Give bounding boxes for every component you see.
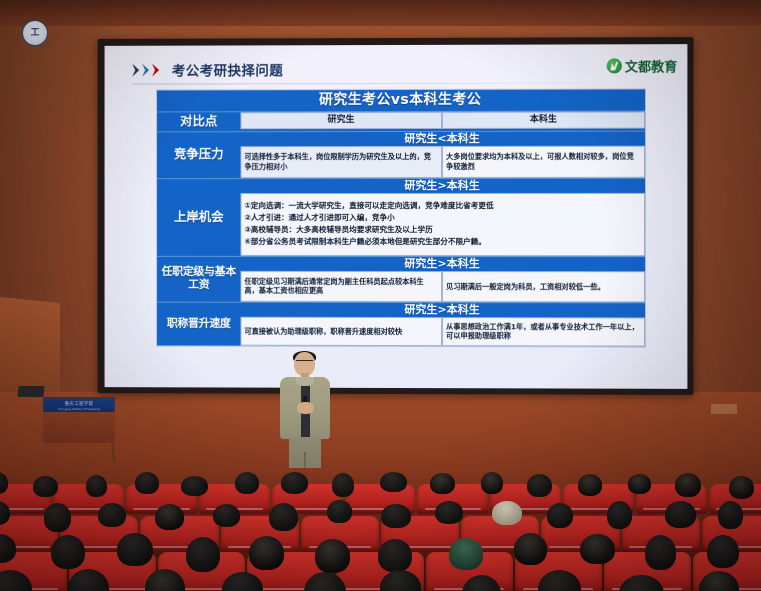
chevron-right-icon-2 — [142, 64, 151, 77]
audience-head — [186, 537, 220, 572]
table-title: 研究生考公vs本科生考公 — [157, 89, 645, 111]
audience-head — [481, 472, 503, 494]
audience-head — [86, 475, 107, 497]
lectern-sign-subtext: Chongqing Institute of Engineering — [45, 408, 113, 411]
chevron-group-icon — [132, 64, 161, 77]
audience-head — [155, 504, 184, 530]
audience-head — [378, 539, 412, 572]
list-item: ④部分省公务员考试限制本科生户籍必须本地但是研究生部分不限户籍。 — [244, 237, 641, 247]
list-item: ①定向选调：一流大学研究生，直接可以走定向选调，竞争难度比省考更低 — [244, 201, 641, 211]
row-banner: 研究生<本科生 — [240, 131, 645, 146]
audience-head — [51, 535, 85, 569]
audience-head — [578, 474, 602, 496]
column-header-undergraduate: 本科生 — [442, 112, 645, 129]
subheader-cells: 研究生 本科生 — [240, 112, 645, 131]
ceiling-strip — [0, 0, 761, 26]
audience-head — [315, 539, 350, 573]
audience-head — [435, 501, 463, 524]
audience-head — [449, 538, 483, 570]
row-label-admission-chance: 上岸机会 — [157, 179, 240, 256]
row-banner: 研究生>本科生 — [240, 179, 645, 193]
row-body-promotion-speed: 研究生>本科生 可直接被认为助理级职称，职称晋升速度相对较快 从事思想政治工作满… — [240, 303, 645, 347]
table-row: 任职定级与基本工资 研究生>本科生 任职定级见习期满后通常定岗为副主任科员起点较… — [157, 256, 645, 303]
audience-head — [547, 503, 573, 528]
row-label-rank-and-salary: 任职定级与基本工资 — [157, 257, 240, 302]
podium-laptop — [17, 386, 44, 397]
audience-head — [213, 504, 240, 527]
row-body-rank-and-salary: 研究生>本科生 任职定级见习期满后通常定岗为副主任科员起点较本科生高，基本工资也… — [240, 257, 645, 302]
header-divider — [132, 82, 672, 84]
audience-area — [0, 468, 761, 591]
table-row: 竞争压力 研究生<本科生 可选择性多于本科生，岗位限制学历为研究生及以上的，竞争… — [157, 130, 645, 178]
lectern: 重庆工程学院 Chongqing Institute of Engineerin… — [43, 397, 115, 443]
university-emblem-icon: 工 — [22, 20, 48, 46]
presenter-collar — [296, 377, 314, 386]
lecture-hall-scene: 考公考研抉择问题 文都教育 研究生考公vs本科生考公 对比点 — [0, 0, 761, 591]
comparison-table: 研究生考公vs本科生考公 对比点 研究生 本科生 竞争压力 — [156, 88, 646, 347]
brand-logo: 文都教育 — [607, 56, 678, 75]
slide-header: 考公考研抉择问题 文都教育 — [105, 44, 688, 90]
brand-name: 文都教育 — [625, 56, 677, 75]
audience-head — [327, 500, 352, 523]
lectern-sign: 重庆工程学院 Chongqing Institute of Engineerin… — [45, 400, 113, 412]
cell-admission-list: ①定向选调：一流大学研究生，直接可以走定向选调，竞争难度比省考更低 ②人才引进：… — [240, 193, 645, 256]
audience-head — [628, 474, 651, 494]
audience-head — [430, 473, 455, 494]
lectern-sign-text: 重庆工程学院 — [45, 400, 113, 408]
table-row: 上岸机会 研究生>本科生 ①定向选调：一流大学研究生，直接可以走定向选调，竞争难… — [157, 178, 645, 256]
row-label-competition-pressure: 竞争压力 — [157, 132, 240, 178]
cell-undergraduate: 从事思想政治工作满1年，或者从事专业技术工作一年以上，可以申报助理级职称 — [442, 317, 645, 346]
table-corner-label: 对比点 — [157, 112, 240, 131]
audience-head — [580, 534, 615, 564]
audience-head — [380, 472, 407, 492]
column-header-graduate: 研究生 — [240, 112, 442, 129]
audience-head — [729, 476, 754, 499]
row-label-promotion-speed: 职称晋升速度 — [157, 302, 240, 345]
wall-outlet — [711, 404, 737, 414]
audience-head — [33, 476, 58, 497]
row-body-admission-chance: 研究生>本科生 ①定向选调：一流大学研究生，直接可以走定向选调，竞争难度比省考更… — [240, 179, 645, 256]
slide-header-title: 考公考研抉择问题 — [172, 59, 283, 79]
cell-graduate: 可选择性多于本科生，岗位限制学历为研究生及以上的，竞争压力相对小 — [240, 146, 442, 178]
row-body-competition-pressure: 研究生<本科生 可选择性多于本科生，岗位限制学历为研究生及以上的，竞争压力相对小… — [240, 131, 645, 177]
audience-head — [181, 476, 208, 496]
audience-head — [332, 473, 354, 497]
projection-screen: 考公考研抉择问题 文都教育 研究生考公vs本科生考公 对比点 — [105, 44, 688, 389]
cell-undergraduate: 见习期满后一般定岗为科员，工资相对较低一些。 — [442, 271, 645, 302]
audience-head — [281, 472, 308, 494]
cell-undergraduate: 大多岗位要求均为本科及以上，可报人数相对较多，岗位竞争较激烈 — [442, 145, 645, 177]
cell-graduate: 任职定级见习期满后通常定岗为副主任科员起点较本科生高，基本工资也相应更高 — [240, 271, 442, 302]
audience-head — [514, 533, 547, 565]
glasses-icon — [296, 360, 313, 364]
leaf-circle-logo-icon — [607, 58, 622, 73]
list-item: ②人才引进：通过人才引进即可入编，竞争小 — [244, 213, 641, 223]
audience-head — [117, 533, 153, 566]
audience-head — [675, 473, 701, 497]
chevron-right-icon-3 — [152, 64, 161, 77]
audience-head — [44, 503, 71, 532]
cell-graduate: 可直接被认为助理级职称，职称晋升速度相对较快 — [240, 316, 442, 345]
chevron-right-icon-1 — [132, 64, 141, 77]
presentation-slide: 考公考研抉择问题 文都教育 研究生考公vs本科生考公 对比点 — [105, 44, 688, 389]
presenter-hands — [297, 402, 314, 414]
audience-head — [492, 501, 522, 525]
audience-head — [645, 535, 676, 570]
audience-head — [269, 503, 298, 531]
audience-head — [249, 536, 284, 570]
lectern-body — [43, 412, 115, 443]
list-item: ③高校辅导员：大多高校辅导员均要求研究生及以上学历 — [244, 225, 641, 235]
audience-head — [235, 472, 259, 494]
audience-head — [135, 472, 159, 494]
audience-head — [707, 535, 739, 568]
audience-head — [718, 501, 743, 529]
projection-screen-bezel: 考公考研抉择问题 文都教育 研究生考公vs本科生考公 对比点 — [98, 37, 694, 395]
row-banner: 研究生>本科生 — [240, 303, 645, 318]
table-subheader-row: 对比点 研究生 本科生 — [157, 111, 645, 132]
audience-head — [527, 474, 552, 497]
table-row: 职称晋升速度 研究生>本科生 可直接被认为助理级职称，职称晋升速度相对较快 从事… — [157, 301, 645, 346]
row-banner: 研究生>本科生 — [240, 257, 645, 271]
audience-head — [607, 501, 632, 529]
audience-head — [381, 504, 411, 528]
audience-head — [665, 501, 696, 528]
audience-head — [98, 503, 126, 527]
